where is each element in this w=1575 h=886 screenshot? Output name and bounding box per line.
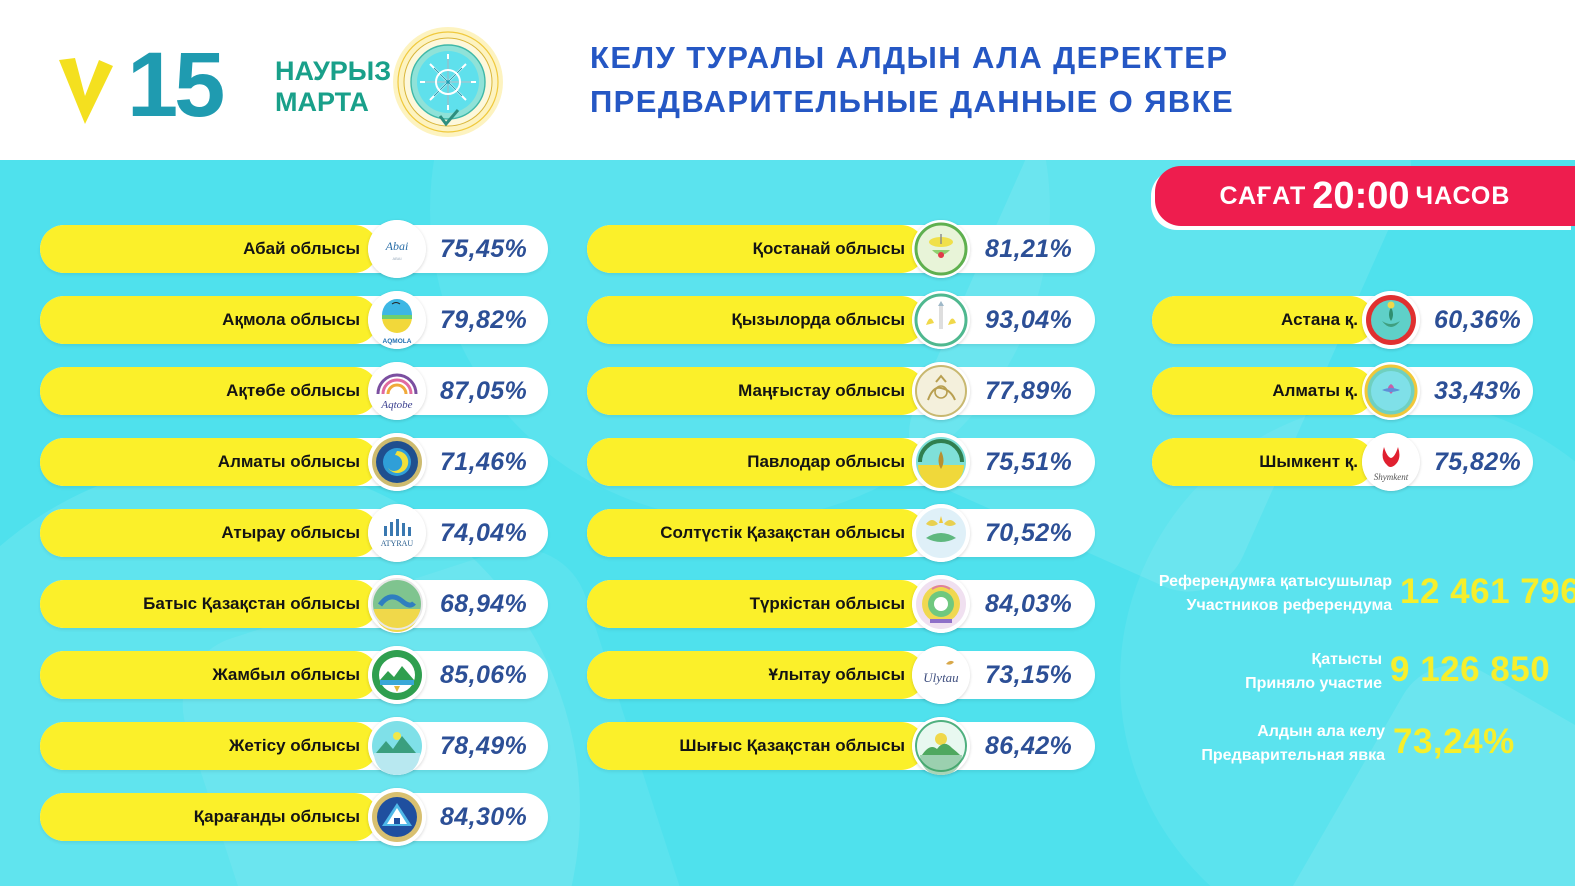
region-name: Ақтөбе облысы: [40, 367, 360, 415]
kyzylorda-emblem: [912, 291, 970, 349]
almaty-region-emblem: [368, 433, 426, 491]
stat-label-kk: Алдын ала келу: [1201, 720, 1385, 744]
stat-item: Алдын ала келуПредварительная явка73,24%: [1145, 720, 1575, 776]
date-word-ru: МАРТА: [275, 87, 391, 118]
page-title: КЕЛУ ТУРАЛЫ АЛДЫН АЛА ДЕРЕКТЕР ПРЕДВАРИТ…: [590, 36, 1234, 124]
stat-item: Референдумға қатысушыларУчастников рефер…: [1145, 570, 1575, 626]
time-value: 20:00: [1312, 175, 1409, 217]
header: 15 НАУРЫЗ МАРТА КЕЛУ ТУРАЛЫ АЛДЫН АЛА ДЕ…: [0, 0, 1575, 160]
stat-label-ru: Приняло участие: [1245, 672, 1382, 696]
region-name: Қызылорда облысы: [587, 296, 905, 344]
table-row[interactable]: Шымкент қ.Shymkent75,82%: [1152, 438, 1533, 486]
turnout-percent: 79,82%: [440, 296, 527, 344]
table-row[interactable]: Ұлытау облысыUlytau73,15%: [587, 651, 1095, 699]
turnout-percent: 86,42%: [985, 722, 1072, 770]
stat-value: 9 126 850: [1390, 650, 1550, 690]
region-name: Қарағанды облысы: [40, 793, 360, 841]
stat-labels: Референдумға қатысушыларУчастников рефер…: [1159, 570, 1392, 618]
stat-labels: Алдын ала келуПредварительная явка: [1201, 720, 1385, 768]
svg-text:Aqtobe: Aqtobe: [380, 399, 412, 411]
table-row[interactable]: Қызылорда облысы93,04%: [587, 296, 1095, 344]
date-logo: 15 НАУРЫЗ МАРТА: [55, 38, 355, 133]
abai-emblem: AbaiABAI: [368, 220, 426, 278]
region-name: Маңғыстау облысы: [587, 367, 905, 415]
table-row[interactable]: Шығыс Қазақстан облысы86,42%: [587, 722, 1095, 770]
table-row[interactable]: Алматы облысы71,46%: [40, 438, 548, 486]
time-banner: САҒАТ20:00ЧАСОВ: [1155, 166, 1575, 226]
turnout-percent: 70,52%: [985, 509, 1072, 557]
svg-text:ATYRAU: ATYRAU: [381, 539, 414, 548]
zhambyl-emblem: [368, 646, 426, 704]
stat-value: 12 461 796: [1400, 572, 1575, 612]
atyrau-emblem: ATYRAU: [368, 504, 426, 562]
turnout-percent: 33,43%: [1434, 367, 1521, 415]
turnout-percent: 75,51%: [985, 438, 1072, 486]
title-ru: ПРЕДВАРИТЕЛЬНЫЕ ДАННЫЕ О ЯВКЕ: [590, 80, 1234, 124]
date-number: 15: [127, 40, 221, 130]
aqmola-emblem: AQMOLA: [368, 291, 426, 349]
region-name: Ұлытау облысы: [587, 651, 905, 699]
stat-label-kk: Референдумға қатысушылар: [1159, 570, 1392, 594]
region-name: Павлодар облысы: [587, 438, 905, 486]
turnout-percent: 77,89%: [985, 367, 1072, 415]
turnout-percent: 85,06%: [440, 651, 527, 699]
table-row[interactable]: Жамбыл облысы85,06%: [40, 651, 548, 699]
turnout-percent: 73,15%: [985, 651, 1072, 699]
table-row[interactable]: Жетісу облысы78,49%: [40, 722, 548, 770]
astana-emblem: [1362, 291, 1420, 349]
region-name: Шығыс Қазақстан облысы: [587, 722, 905, 770]
date-word-kk: НАУРЫЗ: [275, 56, 391, 87]
turnout-percent: 84,30%: [440, 793, 527, 841]
karaganda-emblem: [368, 788, 426, 846]
region-name: Батыс Қазақстан облысы: [40, 580, 360, 628]
region-name: Солтүстік Қазақстан облысы: [587, 509, 905, 557]
west-kazakhstan-emblem: [368, 575, 426, 633]
table-row[interactable]: Батыс Қазақстан облысы68,94%: [40, 580, 548, 628]
svg-text:Shymkent: Shymkent: [1374, 472, 1409, 482]
region-name: Жетісу облысы: [40, 722, 360, 770]
table-row[interactable]: Алматы қ.33,43%: [1152, 367, 1533, 415]
aqtobe-emblem: Aqtobe: [368, 362, 426, 420]
ulytau-emblem: Ulytau: [912, 646, 970, 704]
time-word-ru: ЧАСОВ: [1416, 182, 1511, 210]
table-row[interactable]: Астана қ.60,36%: [1152, 296, 1533, 344]
stat-label-ru: Предварительная явка: [1201, 744, 1385, 768]
turnout-percent: 84,03%: [985, 580, 1072, 628]
kostanay-emblem: [912, 220, 970, 278]
pavlodar-emblem: [912, 433, 970, 491]
table-row[interactable]: Ақтөбе облысыAqtobe87,05%: [40, 367, 548, 415]
region-name: Алматы облысы: [40, 438, 360, 486]
table-row[interactable]: Қостанай облысы81,21%: [587, 225, 1095, 273]
shymkent-emblem: Shymkent: [1362, 433, 1420, 491]
svg-text:Abai: Abai: [385, 239, 409, 253]
table-row[interactable]: Түркістан облысы84,03%: [587, 580, 1095, 628]
main-panel: САҒАТ20:00ЧАСОВ Абай облысыAbaiABAI75,45…: [0, 160, 1575, 886]
svg-text:AQMOLA: AQMOLA: [383, 338, 412, 345]
north-kazakhstan-emblem: [912, 504, 970, 562]
mangystau-emblem: [912, 362, 970, 420]
region-name: Атырау облысы: [40, 509, 360, 557]
table-row[interactable]: Қарағанды облысы84,30%: [40, 793, 548, 841]
turnout-percent: 71,46%: [440, 438, 527, 486]
turnout-percent: 60,36%: [1434, 296, 1521, 344]
region-name: Алматы қ.: [1152, 367, 1358, 415]
table-row[interactable]: Павлодар облысы75,51%: [587, 438, 1095, 486]
svg-text:Ulytau: Ulytau: [923, 670, 959, 685]
table-row[interactable]: Абай облысыAbaiABAI75,45%: [40, 225, 548, 273]
date-words: НАУРЫЗ МАРТА: [275, 56, 391, 118]
turnout-percent: 87,05%: [440, 367, 527, 415]
almaty-city-emblem: [1362, 362, 1420, 420]
stat-label-ru: Участников референдума: [1159, 594, 1392, 618]
turnout-percent: 74,04%: [440, 509, 527, 557]
infographic-page: 15 НАУРЫЗ МАРТА КЕЛУ ТУРАЛЫ АЛДЫН АЛА ДЕ…: [0, 0, 1575, 886]
svg-text:ABAI: ABAI: [392, 256, 401, 261]
zhetisu-emblem: [368, 717, 426, 775]
table-row[interactable]: Солтүстік Қазақстан облысы70,52%: [587, 509, 1095, 557]
region-name: Жамбыл облысы: [40, 651, 360, 699]
turnout-percent: 75,45%: [440, 225, 527, 273]
turnout-percent: 68,94%: [440, 580, 527, 628]
stat-labels: ҚатыстыПриняло участие: [1245, 648, 1382, 696]
table-row[interactable]: Ақмола облысыAQMOLA79,82%: [40, 296, 548, 344]
turnout-percent: 93,04%: [985, 296, 1072, 344]
stat-item: ҚатыстыПриняло участие9 126 850: [1145, 648, 1575, 704]
region-name: Ақмола облысы: [40, 296, 360, 344]
table-row[interactable]: Маңғыстау облысы77,89%: [587, 367, 1095, 415]
title-kk: КЕЛУ ТУРАЛЫ АЛДЫН АЛА ДЕРЕКТЕР: [590, 36, 1234, 80]
stat-value: 73,24%: [1393, 722, 1515, 762]
turnout-percent: 75,82%: [1434, 438, 1521, 486]
stat-label-kk: Қатысты: [1245, 648, 1382, 672]
region-name: Түркістан облысы: [587, 580, 905, 628]
cec-seal-icon: [392, 26, 504, 138]
turkistan-emblem: [912, 575, 970, 633]
turnout-percent: 81,21%: [985, 225, 1072, 273]
region-name: Қостанай облысы: [587, 225, 905, 273]
region-name: Абай облысы: [40, 225, 360, 273]
region-name: Шымкент қ.: [1152, 438, 1358, 486]
table-row[interactable]: Атырау облысыATYRAU74,04%: [40, 509, 548, 557]
region-name: Астана қ.: [1152, 296, 1358, 344]
east-kazakhstan-emblem: [912, 717, 970, 775]
turnout-percent: 78,49%: [440, 722, 527, 770]
time-word-kk: САҒАТ: [1220, 182, 1307, 210]
